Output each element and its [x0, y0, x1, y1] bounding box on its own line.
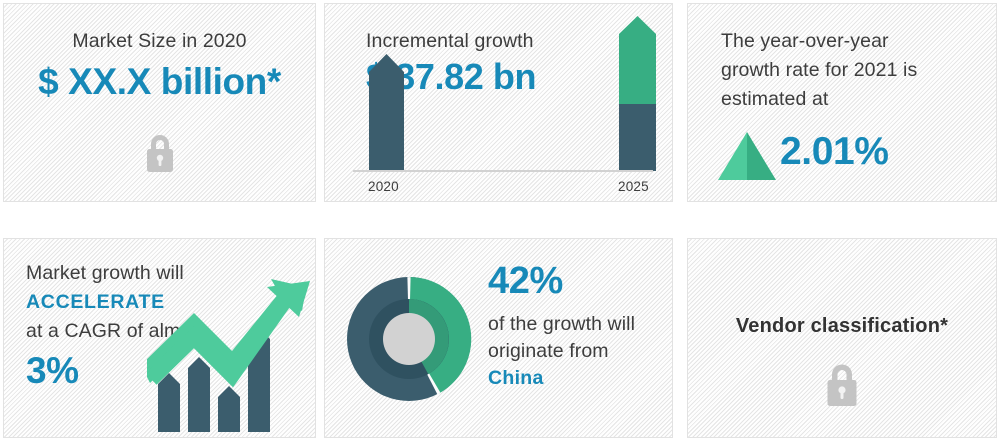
panel-cagr: Market growth will ACCELERATE at a CAGR … [3, 238, 316, 438]
lock-icon [820, 359, 864, 411]
lock-icon [140, 130, 180, 176]
yoy-line-2: growth rate for 2021 is [721, 57, 917, 84]
infographic-root: Market Size in 2020 $ XX.X billion* Incr… [0, 0, 1000, 441]
bar-2025-increment [619, 16, 656, 104]
panel-vendor-classification: Vendor classification* [687, 238, 997, 438]
yoy-growth-value: 2.01% [780, 132, 889, 171]
panel-incremental-growth: Incremental growth $ 37.82 bn 2020 2025 [324, 3, 673, 202]
yoy-line-1: The year-over-year [721, 28, 889, 55]
cagr-accent-word: ACCELERATE [26, 289, 165, 316]
cagr-bar-1 [158, 373, 180, 432]
tick-label-2020: 2020 [368, 179, 399, 194]
region-share-country: China [488, 365, 544, 392]
region-share-line-1: of the growth will [488, 311, 635, 338]
up-trend-arrow-icon [147, 279, 315, 434]
cagr-bar-3 [218, 386, 240, 432]
donut-chart-icon [339, 269, 479, 409]
market-size-value: $ XX.X billion* [4, 63, 315, 100]
incremental-growth-bar-chart [325, 4, 673, 202]
panel-yoy-growth: The year-over-year growth rate for 2021 … [687, 3, 997, 202]
cagr-value: 3% [26, 352, 79, 389]
cagr-bar-2 [188, 357, 210, 432]
bar-2025-base [619, 104, 656, 171]
chart-baseline [353, 170, 653, 172]
yoy-line-3: estimated at [721, 86, 828, 113]
region-share-line-2: originate from [488, 338, 609, 365]
tick-label-2025: 2025 [618, 179, 649, 194]
bar-2020 [369, 54, 404, 171]
region-share-value: 42% [488, 262, 563, 300]
donut-center [383, 313, 435, 365]
vendor-classification-title: Vendor classification* [688, 315, 996, 338]
panel-region-share: 42% of the growth will originate from Ch… [324, 238, 673, 438]
up-triangle-icon [718, 132, 776, 180]
market-size-title: Market Size in 2020 [4, 28, 315, 55]
panel-market-size: Market Size in 2020 $ XX.X billion* [3, 3, 316, 202]
